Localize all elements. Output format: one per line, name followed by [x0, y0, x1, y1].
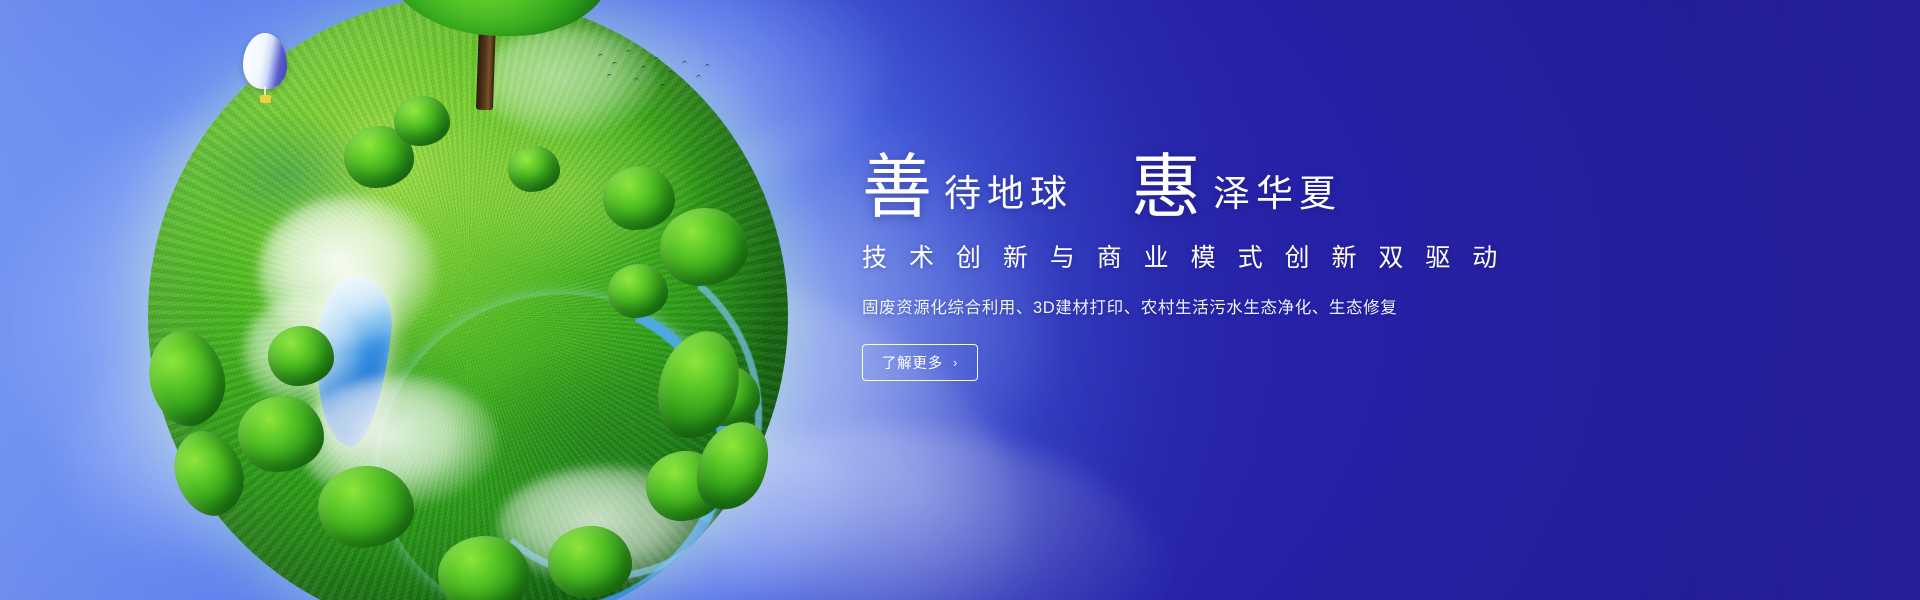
chevron-right-icon: › — [953, 355, 958, 370]
headline: 善 待地球 惠 泽华夏 — [862, 128, 1822, 218]
subtitle: 技 术 创 新 与 商 业 模 式 创 新 双 驱 动 — [862, 238, 1822, 274]
headline-phrase2-rest: 泽华夏 — [1213, 175, 1342, 212]
hero-content: 善 待地球 惠 泽华夏 技 术 创 新 与 商 业 模 式 创 新 双 驱 动 … — [862, 128, 1822, 381]
headline-phrase2-lead: 惠 — [1131, 152, 1201, 222]
learn-more-button[interactable]: 了解更多 › — [862, 344, 978, 381]
learn-more-label: 了解更多 — [882, 352, 943, 373]
headline-phrase1-lead: 善 — [862, 152, 932, 222]
headline-phrase1-rest: 待地球 — [944, 175, 1073, 212]
hero-banner: 善 待地球 惠 泽华夏 技 术 创 新 与 商 业 模 式 创 新 双 驱 动 … — [0, 0, 1920, 600]
description: 固废资源化综合利用、3D建材打印、农村生活污水生态净化、生态修复 — [862, 294, 1822, 318]
